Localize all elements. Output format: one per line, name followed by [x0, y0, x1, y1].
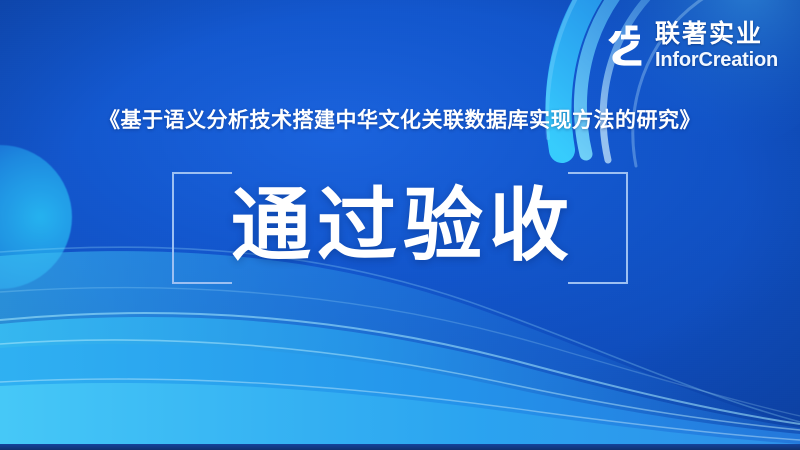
logo-english-name: InforCreation: [655, 50, 778, 70]
headline-block: 通过验收: [0, 168, 800, 284]
logo-chinese-name: 联著实业: [655, 22, 763, 47]
poster-canvas: 联著实业 InforCreation 《基于语义分析技术搭建中华文化关联数据库实…: [0, 0, 800, 450]
bracket-left-decoration: [172, 172, 232, 284]
logo-wordmark: 联著实业 InforCreation: [655, 22, 778, 70]
project-title-text: 《基于语义分析技术搭建中华文化关联数据库实现方法的研究》: [0, 104, 800, 134]
headline-text: 通过验收: [225, 186, 575, 266]
inforcreation-logo-mark-icon: [607, 24, 647, 68]
bottom-edge-strip: [0, 444, 800, 450]
brand-logo: 联著实业 InforCreation: [607, 22, 778, 70]
bracket-right-decoration: [568, 172, 628, 284]
